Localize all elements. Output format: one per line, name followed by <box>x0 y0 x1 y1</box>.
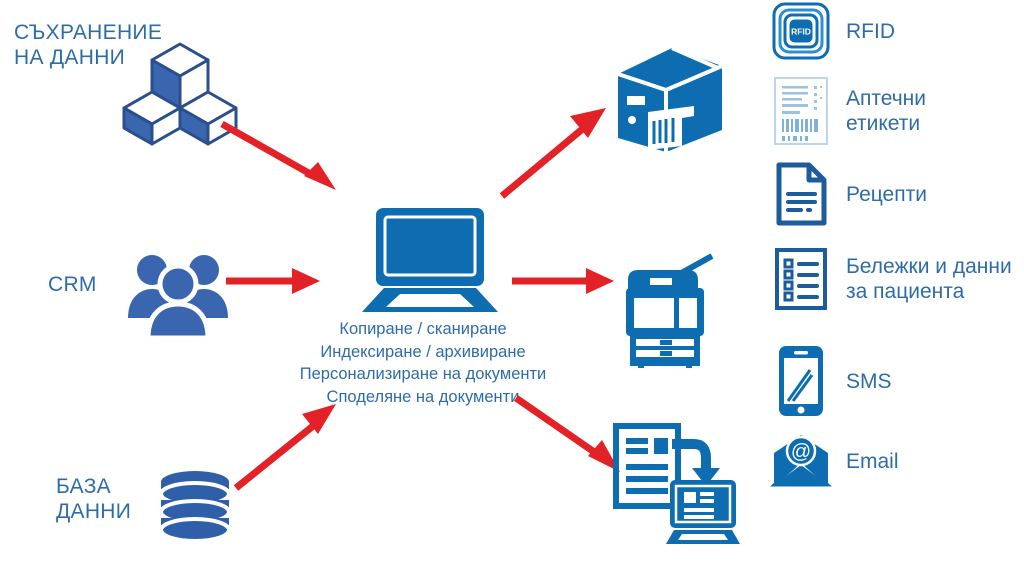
arrow-storage-to-center <box>218 118 338 196</box>
legend-item-pharmacy-labels: Аптечни етикети <box>772 82 926 140</box>
legend-label-prescriptions: Рецепти <box>846 182 927 207</box>
legend-label-rfid: RFID <box>846 19 895 44</box>
source-label-database: БАЗА ДАННИ <box>56 474 131 524</box>
laptop-icon <box>362 208 498 312</box>
svg-text:@: @ <box>791 441 811 463</box>
legend-label-patient-notes: Бележки и данни за пациента <box>846 254 1012 304</box>
legend-item-patient-notes: Бележки и данни за пациента <box>772 250 1012 308</box>
legend-item-email: @ Email <box>772 432 899 490</box>
envelope-at-icon: @ <box>772 432 830 490</box>
copier-icon <box>624 250 718 368</box>
legend-item-sms: SMS <box>772 352 892 410</box>
legend-item-prescriptions: Рецепти <box>772 165 927 223</box>
rfid-tag-icon: RFID <box>772 2 830 60</box>
arrow-crm-to-center <box>226 268 322 294</box>
document-to-laptop-icon <box>614 424 740 546</box>
arrow-center-to-archive <box>512 394 622 480</box>
smartphone-icon <box>772 352 830 410</box>
checklist-icon <box>772 250 830 308</box>
legend-label-sms: SMS <box>846 369 892 394</box>
source-label-crm: CRM <box>48 272 97 297</box>
legend-label-email: Email <box>846 449 899 474</box>
legend-item-rfid: RFID RFID <box>772 2 895 60</box>
prescription-document-icon <box>772 165 830 223</box>
legend-label-pharmacy-labels: Аптечни етикети <box>846 86 926 136</box>
arrow-database-to-center <box>232 396 338 492</box>
database-icon <box>160 470 230 546</box>
arrow-center-to-copier <box>512 268 616 294</box>
diagram-canvas: СЪХРАНЕНИЕ НА ДАННИ CRM <box>0 0 1024 564</box>
pharmacy-label-icon <box>772 82 830 140</box>
label-printer-icon <box>618 48 722 152</box>
arrow-center-to-printer <box>498 96 608 200</box>
rfid-chip-text: RFID <box>791 27 811 37</box>
